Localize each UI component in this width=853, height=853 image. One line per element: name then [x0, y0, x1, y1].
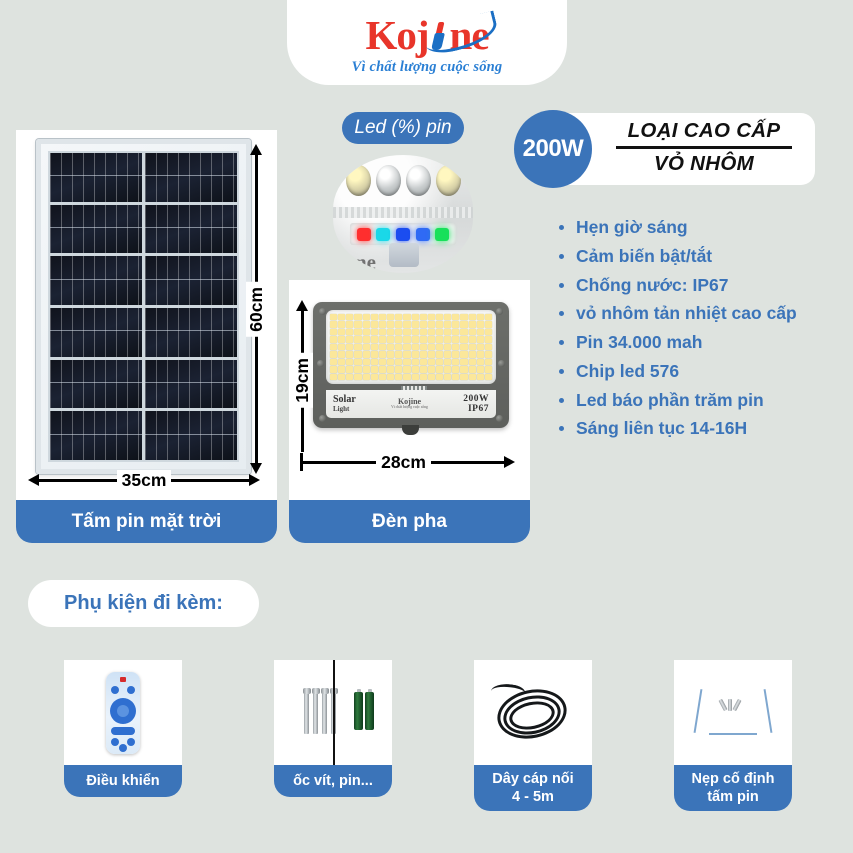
dimension-lamp-height: 19cm — [290, 300, 314, 452]
dimension-lamp-width: 28cm — [300, 452, 515, 472]
brand-header-card: Koj ne Vì chất lượng cuộc sống — [287, 0, 567, 85]
accessory-photo-bracket — [674, 660, 792, 765]
screw-icon — [498, 360, 505, 367]
accessory-photo-screws-battery — [274, 660, 392, 765]
lamp-spec-power: 200W — [463, 394, 489, 404]
feature-item: Pin 34.000 mah — [556, 333, 846, 352]
lamp-brand-top: Solar — [333, 395, 356, 406]
floodlight-illustration: Solar Light Kojine Vì chất lượng cuộc số… — [313, 302, 509, 428]
feature-item: Led báo phần trăm pin — [556, 391, 846, 410]
product-label-floodlight: Đèn pha — [289, 500, 530, 543]
dimension-solar-height-label: 60cm — [246, 282, 267, 337]
accessory-label-screws-battery: ốc vít, pin... — [274, 765, 392, 797]
lamp-mount-knob — [402, 425, 419, 435]
mounting-bracket-icon — [693, 687, 773, 739]
led-heatsink-strip — [333, 207, 473, 218]
logo-text-part1: Koj — [365, 15, 428, 56]
premium-line-1: LOẠI CAO CẤP — [628, 117, 781, 145]
screws-icon — [304, 692, 336, 734]
solar-panel-photo — [16, 130, 277, 500]
product-card-floodlight: Solar Light Kojine Vì chất lượng cuộc số… — [289, 280, 530, 543]
feature-item: Chip led 576 — [556, 362, 846, 381]
feature-list: Hẹn giờ sáng Cảm biến bật/tắt Chống nước… — [556, 218, 846, 448]
premium-badge-text: LOẠI CAO CẤP VỎ NHÔM — [606, 117, 802, 178]
screw-icon — [496, 308, 503, 315]
premium-divider — [616, 146, 792, 149]
lamp-brand-bottom: Light — [333, 406, 356, 413]
accessory-label-remote: Điều khiển — [64, 765, 182, 797]
accessory-photo-remote — [64, 660, 182, 765]
wattage-badge: 200W — [514, 110, 592, 188]
screw-icon — [317, 360, 324, 367]
screw-icon — [496, 415, 503, 422]
lamp-center-logo: Kojine — [398, 397, 421, 406]
led-chip-grid — [330, 314, 492, 380]
logo-figure-icon — [430, 21, 449, 51]
accessories-heading: Phụ kiện đi kèm: — [28, 580, 259, 627]
accessory-label-bracket: Nẹp cố định tấm pin — [674, 765, 792, 811]
dimension-solar-height: 60cm — [244, 144, 268, 474]
led-sensor-knob — [389, 243, 419, 267]
solar-cell-grid — [48, 151, 239, 462]
screw-icon — [319, 415, 326, 422]
premium-line-2: VỎ NHÔM — [654, 150, 754, 178]
brand-tagline: Vì chất lượng cuộc sống — [352, 59, 503, 76]
dimension-solar-width-label: 35cm — [117, 470, 172, 491]
floodlight-brand-plate: Solar Light Kojine Vì chất lượng cuộc số… — [326, 390, 496, 418]
floodlight-lens — [326, 310, 496, 384]
accessory-label-cable: Dây cáp nối 4 - 5m — [474, 765, 592, 811]
battery-icon — [354, 692, 374, 730]
brand-logo: Koj ne — [365, 15, 488, 56]
led-indicator-photo: ne — [333, 155, 473, 273]
led-photo-brand-fragment: ne — [355, 250, 376, 273]
accessory-photo-cable — [474, 660, 592, 765]
solar-panel-illustration — [36, 139, 251, 474]
dimension-lamp-width-label: 28cm — [376, 452, 431, 473]
accessory-card-bracket: Nẹp cố định tấm pin — [674, 660, 792, 811]
feature-item: Hẹn giờ sáng — [556, 218, 846, 237]
accessory-card-screws-battery: ốc vít, pin... — [274, 660, 392, 797]
battery-percent-leds — [350, 223, 456, 245]
led-percent-badge: Led (%) pin — [342, 112, 464, 144]
feature-item: Cảm biến bật/tắt — [556, 247, 846, 266]
lamp-center-tagline: Vì chất lượng cuộc sống — [391, 406, 428, 410]
feature-item: Chống nước: IP67 — [556, 276, 846, 295]
logo-text-part2: ne — [450, 15, 489, 56]
remote-control-icon — [106, 672, 140, 754]
product-label-solar-panel: Tấm pin mặt trời — [16, 500, 277, 543]
screw-icon — [319, 308, 326, 315]
led-reflector-row — [339, 161, 467, 205]
lamp-spec-rating: IP67 — [468, 404, 489, 414]
dimension-solar-width: 35cm — [28, 470, 260, 490]
cable-coil-icon — [493, 682, 573, 744]
dimension-lamp-height-label: 19cm — [292, 353, 313, 408]
accessory-card-remote: Điều khiển — [64, 660, 182, 797]
feature-item: Sáng liên tục 14-16H — [556, 419, 846, 438]
feature-item: vỏ nhôm tản nhiệt cao cấp — [556, 304, 846, 323]
accessory-card-cable: Dây cáp nối 4 - 5m — [474, 660, 592, 811]
